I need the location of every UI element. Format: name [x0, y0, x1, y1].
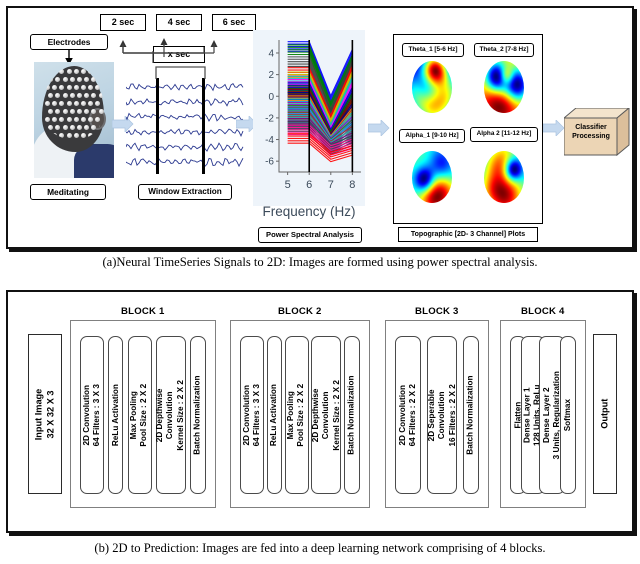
spectral-xtick-label: 8 — [349, 179, 355, 191]
electrode-dot — [63, 125, 68, 130]
electrode-dot — [45, 101, 50, 106]
electrode-dot — [74, 117, 79, 122]
electrode-dot — [95, 85, 100, 90]
electrode-dot — [84, 77, 89, 82]
electrode-dot — [88, 69, 93, 74]
electrode-dot — [84, 125, 89, 130]
layer-label: Batch Normalization — [347, 375, 357, 454]
electrode-dot — [81, 69, 86, 74]
electrode-dot — [59, 85, 64, 90]
block-title-2: BLOCK 2 — [278, 306, 322, 317]
power-spectral-plot: -6-4-20245678 — [253, 30, 365, 206]
electrode-dot — [77, 125, 82, 130]
spectral-ytick-label: 2 — [268, 70, 274, 81]
electrode-dot — [74, 133, 79, 138]
layer-label: 2D SeperableConvolution16 Filters : 2 X … — [427, 384, 458, 446]
layer-label: ReLu Activation — [111, 384, 121, 446]
spectral-xtick-label: 6 — [306, 179, 312, 191]
electrode-dot — [77, 109, 82, 114]
electrode-dot — [95, 133, 100, 138]
electrode-dot — [99, 93, 104, 98]
electrode-dot — [70, 77, 75, 82]
eeg-trace — [126, 84, 243, 91]
layer-label: Batch Normalization — [193, 375, 203, 454]
electrode-dot — [77, 93, 82, 98]
electrode-dot — [67, 133, 72, 138]
spectral-ytick-label: -4 — [265, 135, 274, 146]
spectral-ytick-label: 4 — [268, 48, 274, 59]
electrode-dot — [91, 93, 96, 98]
layer-label: 2D DepthwiseConvolutionKernel Size : 2 X… — [155, 380, 186, 451]
electrode-dot — [74, 85, 79, 90]
electrode-dot — [95, 69, 100, 74]
electrode-dot — [59, 117, 64, 122]
electrode-dot — [45, 85, 50, 90]
electrode-dot — [48, 109, 53, 114]
electrode-dot — [52, 85, 57, 90]
layer-label: ReLu Activation — [269, 384, 279, 446]
spectral-xaxis-label: Frequency (Hz) — [248, 204, 370, 219]
electrode-dot — [55, 109, 60, 114]
electrode-dot — [81, 85, 86, 90]
electrode-dot — [88, 101, 93, 106]
electrode-dot — [67, 69, 72, 74]
layer-conv2d[interactable]: 2D Convolution64 Filters : 3 X 3 — [240, 336, 264, 494]
electrode-dot — [84, 93, 89, 98]
electrodes-label: Electrodes — [30, 34, 108, 50]
electrode-dot — [99, 77, 104, 82]
meditating-label: Meditating — [30, 184, 106, 200]
electrode-dot — [52, 117, 57, 122]
topo-title-theta1: Theta_1 [5-6 Hz] — [402, 43, 464, 57]
topographic-plots-container: Theta_1 [5-6 Hz] Theta_2 [7-8 Hz] Alpha_… — [393, 34, 543, 224]
electrode-dot — [45, 69, 50, 74]
electrode-dot — [45, 133, 50, 138]
eeg-trace — [126, 113, 243, 120]
layer-label: Max PoolingPool Size : 2 X 2 — [129, 384, 150, 447]
output-slab: Output — [593, 334, 617, 494]
timing-connector-lines — [96, 30, 276, 64]
electrode-dot — [77, 77, 82, 82]
electrode-dot — [63, 109, 68, 114]
electrode-dot — [67, 101, 72, 106]
timing-segment-6sec: 6 sec — [212, 14, 256, 31]
electrode-dot — [67, 117, 72, 122]
layer-label: 2D DepthwiseConvolutionKernel Size : 2 X… — [311, 380, 342, 451]
window-marker-right — [202, 78, 205, 174]
spectral-xtick-label: 5 — [285, 179, 291, 191]
electrode-dot — [84, 109, 89, 114]
figure-caption-b: (b) 2D to Prediction: Images are fed int… — [0, 541, 640, 556]
layer-batchnorm[interactable]: Batch Normalization — [190, 336, 206, 494]
topo-map-theta2 — [484, 61, 524, 113]
electrode-dot — [91, 109, 96, 114]
input-image-label: Input Image32 X 32 X 3 — [34, 388, 57, 440]
topo-map-theta1 — [412, 61, 452, 113]
output-label: Output — [599, 399, 611, 429]
layer-label: 2D Convolution64 Filters : 3 X 3 — [242, 384, 263, 446]
topo-title-alpha2: Alpha 2 [11-12 Hz] — [470, 127, 538, 142]
layer-depthwise[interactable]: 2D DepthwiseConvolutionKernel Size : 2 X… — [311, 336, 341, 494]
electrode-dot — [48, 125, 53, 130]
layer-label: Batch Normalization — [466, 375, 476, 454]
electrode-dot — [55, 77, 60, 82]
electrode-dot — [99, 109, 104, 114]
layer-label: 2D Convolution64 Filters : 2 X 2 — [398, 384, 419, 446]
electrode-dot — [45, 117, 50, 122]
classifier-processing-box: Classifier Processing — [564, 108, 630, 156]
electrode-dot — [74, 69, 79, 74]
electrode-dot — [88, 85, 93, 90]
topo-title-alpha1: Alpha_1 [9-10 Hz] — [399, 129, 465, 143]
topo-map-alpha1 — [412, 151, 452, 203]
electrode-dot — [88, 117, 93, 122]
electrode-dot — [63, 77, 68, 82]
topo-map-alpha2 — [484, 151, 524, 203]
layer-batchnorm[interactable]: Batch Normalization — [463, 336, 479, 494]
layer-label: Max PoolingPool Size : 2 X 2 — [286, 384, 307, 447]
figure-caption-a: (a)Neural TimeSeries Signals to 2D: Imag… — [0, 255, 640, 270]
window-extraction-label: Window Extraction — [138, 184, 232, 200]
topo-title-theta2: Theta_2 [7-8 Hz] — [474, 43, 534, 57]
electrode-dot — [95, 101, 100, 106]
layer-label: 2D Convolution64 Filters : 3 X 3 — [82, 384, 103, 446]
timing-segment-2sec: 2 sec — [100, 14, 146, 31]
panel-b-network-architecture: Input Image32 X 32 X 3 BLOCK 12D Convolu… — [6, 290, 634, 533]
spectral-ytick-label: -2 — [265, 113, 274, 124]
eeg-timeseries-traces — [126, 78, 244, 174]
electrode-dot — [99, 125, 104, 130]
layer-depthwise[interactable]: 2D DepthwiseConvolutionKernel Size : 2 X… — [156, 336, 186, 494]
window-bracket — [155, 66, 207, 80]
electrode-dot — [70, 125, 75, 130]
electrode-dot — [91, 125, 96, 130]
panel-a-signal-pipeline: 2 sec 4 sec 6 sec x sec Electrodes Medit… — [6, 6, 634, 249]
layer-relu[interactable]: ReLu Activation — [108, 336, 123, 494]
layer-maxpool[interactable]: Max PoolingPool Size : 2 X 2 — [128, 336, 152, 494]
classifier-label: Classifier Processing — [566, 124, 616, 142]
electrode-dot — [55, 93, 60, 98]
electrode-dot — [70, 109, 75, 114]
eeg-trace — [126, 143, 243, 151]
layer-batchnorm[interactable]: Batch Normalization — [344, 336, 360, 494]
electrode-dot — [55, 125, 60, 130]
input-image-slab: Input Image32 X 32 X 3 — [28, 334, 62, 494]
eeg-trace — [126, 98, 243, 106]
flow-arrow-4 — [543, 120, 565, 136]
electrode-dot — [59, 133, 64, 138]
block-title-3: BLOCK 3 — [415, 306, 459, 317]
layer-maxpool[interactable]: Max PoolingPool Size : 2 X 2 — [285, 336, 309, 494]
electrode-dot — [52, 69, 57, 74]
electrode-dot — [52, 101, 57, 106]
electrode-dot — [48, 77, 53, 82]
topographic-plots-label: Topographic [2D- 3 Channel] Plots — [398, 227, 538, 242]
layer-conv2d[interactable]: 2D Convolution64 Filters : 3 X 3 — [80, 336, 104, 494]
electrode-dot — [48, 93, 53, 98]
electrode-dot — [81, 117, 86, 122]
electrode-dot — [63, 93, 68, 98]
layer-separable[interactable]: 2D SeperableConvolution16 Filters : 2 X … — [427, 336, 457, 494]
block-title-1: BLOCK 1 — [121, 306, 165, 317]
layer-relu[interactable]: ReLu Activation — [267, 336, 282, 494]
timing-segment-4sec: 4 sec — [156, 14, 202, 31]
spectral-xtick-label: 7 — [328, 179, 334, 191]
block-title-4: BLOCK 4 — [521, 306, 565, 317]
layer-label: Softmax — [563, 399, 573, 431]
eeg-trace — [126, 158, 243, 166]
electrode-dot — [81, 101, 86, 106]
layer-softmax[interactable]: Softmax — [560, 336, 576, 494]
electrode-dot — [81, 133, 86, 138]
spectral-ytick-label: 0 — [268, 92, 274, 103]
flow-arrow-3 — [368, 120, 390, 136]
electrode-dot — [70, 93, 75, 98]
electrode-dot — [59, 101, 64, 106]
subject-photo-meditating — [34, 62, 114, 178]
electrode-dot — [59, 69, 64, 74]
electrode-dot — [91, 77, 96, 82]
layer-conv2d[interactable]: 2D Convolution64 Filters : 2 X 2 — [395, 336, 421, 494]
electrode-dot — [74, 101, 79, 106]
window-marker-left — [156, 78, 159, 174]
power-spectral-analysis-label: Power Spectral Analysis — [258, 227, 362, 243]
spectral-ytick-label: -6 — [265, 157, 274, 168]
eeg-trace — [126, 129, 243, 136]
electrode-dot — [67, 85, 72, 90]
electrode-dot — [95, 117, 100, 122]
